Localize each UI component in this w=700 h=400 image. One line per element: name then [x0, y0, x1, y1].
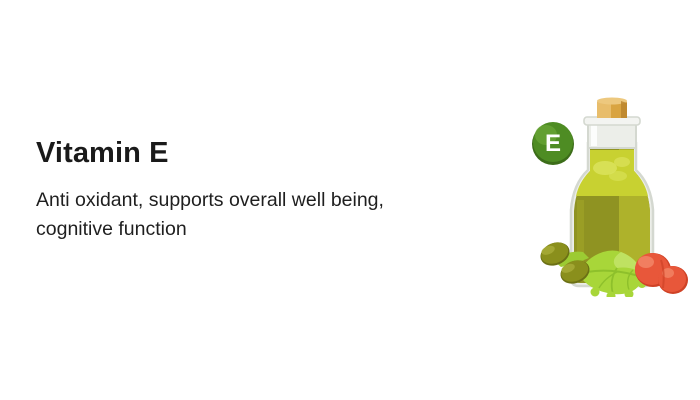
text-block: Vitamin E Anti oxidant, supports overall…: [36, 136, 396, 244]
page-title: Vitamin E: [36, 136, 396, 170]
vitamin-card: Vitamin E Anti oxidant, supports overall…: [0, 0, 700, 400]
svg-text:E: E: [545, 130, 561, 157]
description-text: Anti oxidant, supports overall well bein…: [36, 186, 384, 244]
vitamin-e-badge-icon: E: [532, 122, 574, 165]
vitamin-e-illustration: E: [525, 92, 700, 297]
